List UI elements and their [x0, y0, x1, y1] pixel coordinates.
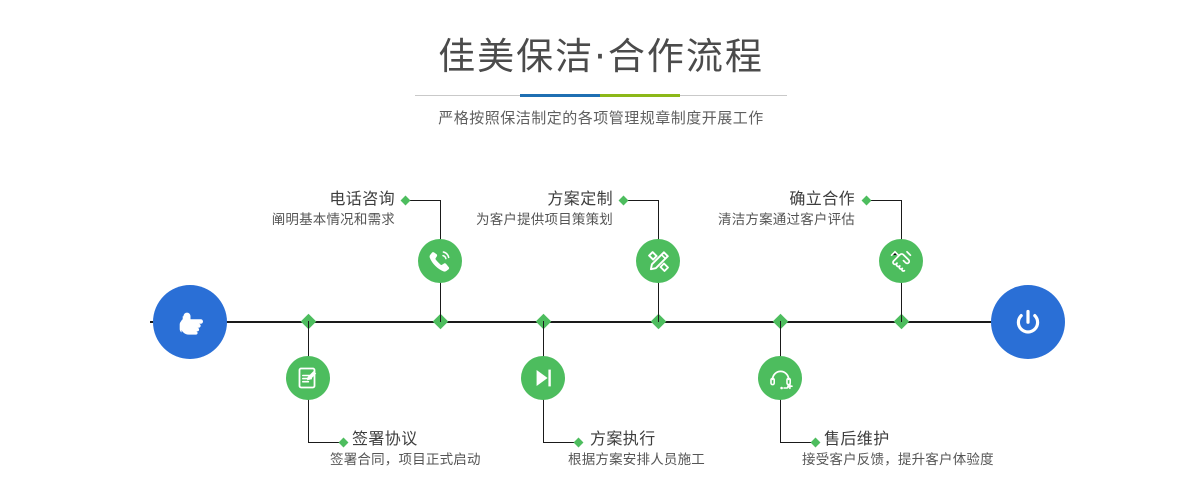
step-1-desc: 阐明基本情况和需求 — [200, 210, 395, 231]
step-3-title: 方案定制 — [418, 188, 613, 210]
customer-service-icon — [767, 365, 794, 392]
divider-segment-blue — [520, 94, 600, 97]
step-5-node[interactable] — [879, 239, 923, 283]
page-subtitle: 严格按照保洁制定的各项管理规章制度开展工作 — [0, 107, 1202, 129]
step-4-node[interactable] — [521, 356, 565, 400]
step-3-connector-horizontal — [624, 200, 659, 201]
step-2-node[interactable] — [286, 356, 330, 400]
play-forward-icon — [530, 365, 556, 391]
step-2-title: 签署协议 — [352, 428, 612, 450]
step-1-title: 电话咨询 — [200, 188, 395, 210]
page-title: 佳美保洁·合作流程 — [0, 34, 1202, 80]
phone-call-icon — [426, 247, 454, 275]
power-icon — [1008, 302, 1048, 342]
start-endpoint[interactable] — [153, 285, 227, 359]
step-3-node[interactable] — [636, 239, 680, 283]
step-6-label: 售后维护 接受客户反馈，提升客户体验度 — [824, 428, 1114, 471]
step-1-node[interactable] — [418, 239, 462, 283]
step-6-desc: 接受客户反馈，提升客户体验度 — [802, 450, 1114, 471]
step-3-tip-dot — [619, 196, 629, 206]
step-4-title: 方案执行 — [590, 428, 850, 450]
title-divider — [415, 94, 787, 97]
end-endpoint[interactable] — [991, 285, 1065, 359]
step-6-title: 售后维护 — [824, 428, 1114, 450]
pointing-hand-icon — [170, 302, 210, 342]
step-1-tip-dot — [401, 196, 411, 206]
step-3-label: 方案定制 为客户提供项目策策划 — [418, 188, 613, 231]
step-6-node[interactable] — [758, 356, 802, 400]
step-5-label: 确立合作 清洁方案通过客户评估 — [660, 188, 855, 231]
step-1-label: 电话咨询 阐明基本情况和需求 — [200, 188, 395, 231]
pencil-ruler-icon — [645, 248, 672, 275]
step-5-tip-dot — [862, 196, 872, 206]
timeline-axis — [150, 321, 1060, 323]
step-5-connector-horizontal — [867, 200, 902, 201]
divider-segment-green — [600, 94, 680, 97]
process-flow-infographic: 佳美保洁·合作流程 严格按照保洁制定的各项管理规章制度开展工作 — [0, 0, 1202, 502]
step-3-desc: 为客户提供项目策策划 — [418, 210, 613, 231]
handshake-icon — [887, 247, 915, 275]
step-5-desc: 清洁方案通过客户评估 — [660, 210, 855, 231]
step-2-tip-dot — [339, 438, 349, 448]
document-edit-icon — [295, 365, 321, 391]
step-5-title: 确立合作 — [660, 188, 855, 210]
